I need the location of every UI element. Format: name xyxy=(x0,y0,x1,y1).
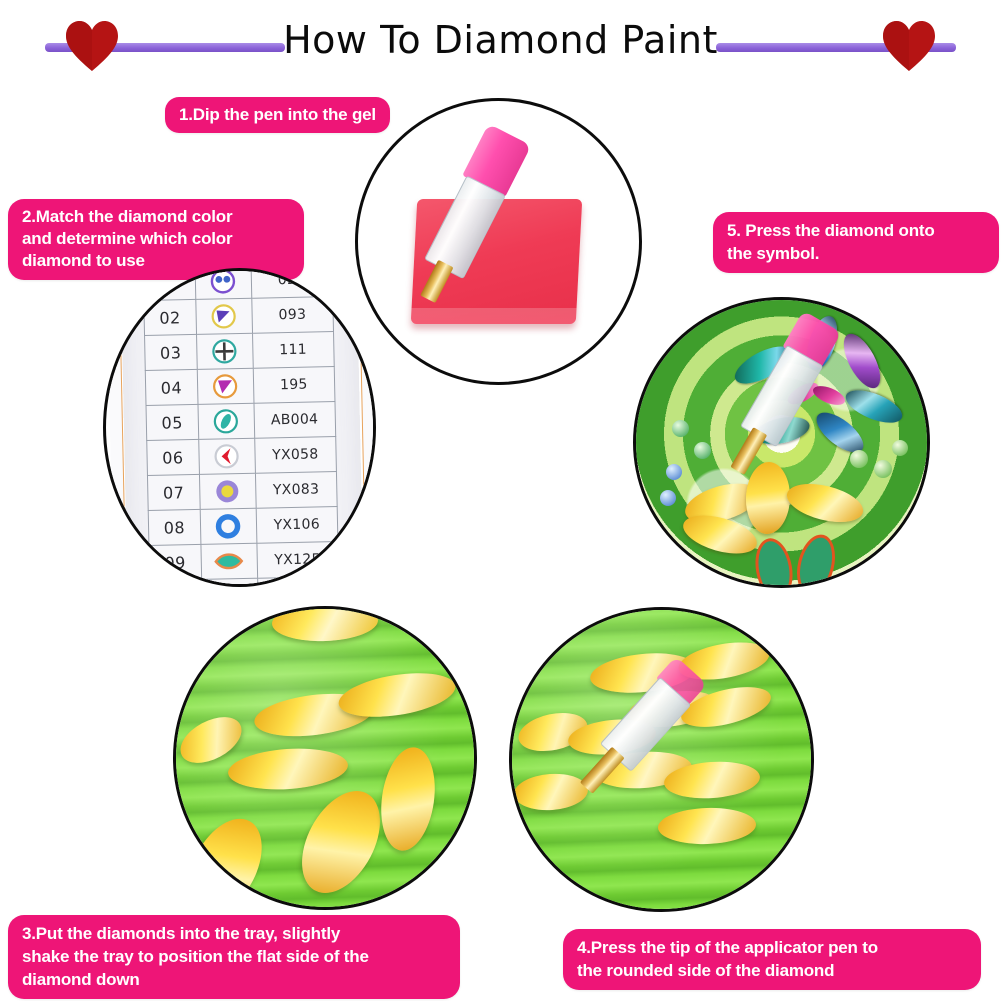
table-row: 06 YX058 xyxy=(147,437,337,476)
legend-number: 04 xyxy=(145,369,197,405)
table-row: 09 YX125 xyxy=(149,542,339,581)
infographic-page: How To Diamond Paint 1.Dip the pen into … xyxy=(0,0,1001,1001)
step-5-photo xyxy=(633,297,930,588)
ring-icon xyxy=(200,510,256,543)
legend-code: YX083 xyxy=(255,472,337,509)
legend-number: 09 xyxy=(149,544,201,580)
step-3-line-2: shake the tray to position the flat side… xyxy=(22,945,446,968)
step-2-photo: 01 020 02 xyxy=(103,268,376,587)
legend-code: AB004 xyxy=(253,402,335,439)
step-2-line-2: and determine which color xyxy=(22,228,290,250)
step-4-photo xyxy=(509,607,814,912)
legend-code: 020 xyxy=(251,268,333,298)
legend-code: YX106 xyxy=(256,507,338,544)
step-1-photo xyxy=(355,98,642,385)
legend-number xyxy=(150,579,202,587)
step-5-line-1: 5. Press the diamond onto xyxy=(727,219,985,242)
page-title: How To Diamond Paint xyxy=(0,18,1001,62)
gem-round xyxy=(672,420,689,437)
legend-table: 01 020 02 xyxy=(143,268,340,587)
step-3-line-3: diamond down xyxy=(22,968,446,991)
step-2-label: 2.Match the diamond color and determine … xyxy=(8,199,304,280)
step-2-line-1: 2.Match the diamond color xyxy=(22,206,290,228)
table-row: 01 020 xyxy=(143,268,333,301)
legend-number: 03 xyxy=(145,334,197,370)
gem-round xyxy=(660,490,676,506)
dot-ring-icon xyxy=(200,475,256,508)
step-1-line-1: 1.Dip the pen into the gel xyxy=(179,104,376,125)
legend-symbol-cell xyxy=(197,368,254,404)
table-row: 02 093 xyxy=(144,297,334,336)
legend-symbol-cell xyxy=(198,403,255,439)
legend-symbol-cell xyxy=(201,578,258,587)
gem-round xyxy=(892,440,908,456)
pen-tip xyxy=(730,427,767,475)
legend-code: YX125 xyxy=(256,542,338,579)
triangle-icon xyxy=(196,300,252,333)
leaf-icon xyxy=(202,580,258,587)
page-header: How To Diamond Paint xyxy=(0,0,1001,90)
legend-number: 02 xyxy=(144,299,196,335)
gem-round xyxy=(850,450,868,468)
legend-symbol-cell xyxy=(195,268,252,299)
legend-code: 111 xyxy=(252,332,334,369)
legend-number: 07 xyxy=(147,474,199,510)
legend-symbol-cell xyxy=(195,298,252,334)
legend-code xyxy=(257,577,339,587)
diamond-legend-chart: 01 020 02 xyxy=(121,268,364,587)
step-5-label: 5. Press the diamond onto the symbol. xyxy=(713,212,999,273)
legend-number: 08 xyxy=(148,509,200,545)
legend-number: 06 xyxy=(147,439,199,475)
table-row: 08 YX106 xyxy=(148,507,338,546)
legend-symbol-cell xyxy=(199,473,256,509)
plus-icon xyxy=(197,335,253,368)
pen-tip xyxy=(420,260,453,303)
gem-round xyxy=(666,464,682,480)
step-4-label: 4.Press the tip of the applicator pen to… xyxy=(563,929,981,990)
legend-number: 01 xyxy=(143,268,195,301)
pen-tip xyxy=(580,747,625,794)
step-4-line-1: 4.Press the tip of the applicator pen to xyxy=(577,936,967,959)
table-row: 05 AB004 xyxy=(146,402,336,441)
step-5-line-2: the symbol. xyxy=(727,242,985,265)
table-row: 03 111 xyxy=(145,332,335,371)
legend-symbol-cell xyxy=(198,438,255,474)
legend-code: YX058 xyxy=(254,437,336,474)
legend-code: 093 xyxy=(251,297,333,334)
table-row: 07 YX083 xyxy=(147,472,337,511)
step-3-line-1: 3.Put the diamonds into the tray, slight… xyxy=(22,922,446,945)
step-3-label: 3.Put the diamonds into the tray, slight… xyxy=(8,915,460,999)
legend-symbol-cell xyxy=(200,508,257,544)
gem-round xyxy=(874,460,892,478)
step-3-photo xyxy=(173,606,477,910)
legend-symbol-cell xyxy=(196,333,253,369)
step-4-line-2: the rounded side of the diamond xyxy=(577,959,967,982)
table-row: 04 195 xyxy=(145,367,335,406)
leaf-icon xyxy=(201,545,257,578)
oval-slash-icon xyxy=(198,405,254,438)
arrow-left-icon xyxy=(199,440,255,473)
triangle-icon xyxy=(197,370,253,403)
legend-code: 195 xyxy=(253,367,335,404)
step-1-label: 1.Dip the pen into the gel xyxy=(165,97,390,133)
legend-number: 05 xyxy=(146,404,198,440)
legend-symbol-cell xyxy=(201,543,258,579)
double-dot-icon xyxy=(195,268,251,298)
